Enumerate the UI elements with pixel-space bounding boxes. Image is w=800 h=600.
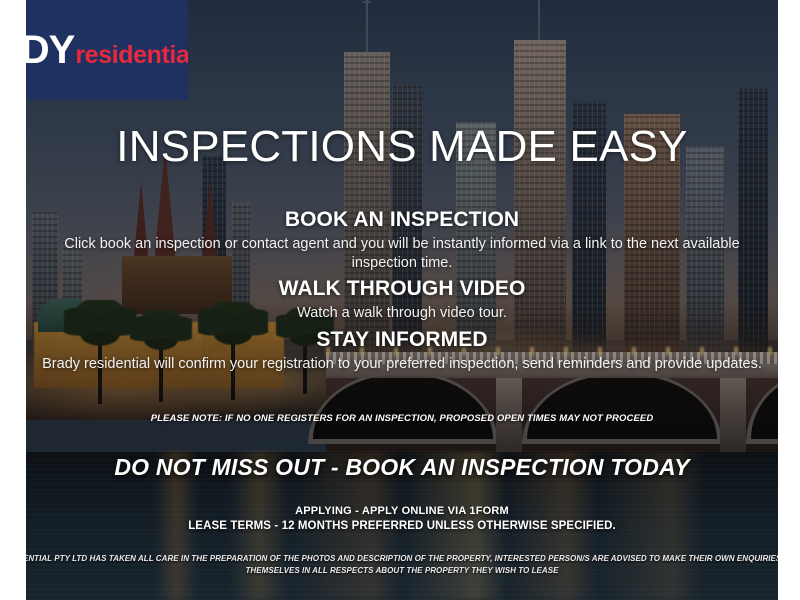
legal-disclaimer-text: BRADY RESIDENTIAL PTY LTD HAS TAKEN ALL …	[26, 553, 778, 577]
section-book-an-inspection: BOOK AN INSPECTION Click book an inspect…	[26, 208, 778, 273]
page-title: INSPECTIONS MADE EASY	[26, 122, 778, 172]
page-root: DYresidential INSPECTIONS MADE EASY BOOK…	[0, 0, 800, 600]
disclaimer-container: BRADY RESIDENTIAL PTY LTD HAS TAKEN ALL …	[26, 553, 778, 578]
call-to-action-text: DO NOT MISS OUT - BOOK AN INSPECTION TOD…	[26, 454, 778, 481]
applying-line: APPLYING - APPLY ONLINE VIA 1FORM	[26, 504, 778, 519]
please-note-text: PLEASE NOTE: IF NO ONE REGISTERS FOR AN …	[26, 413, 778, 424]
brady-residential-logo[interactable]: DYresidential	[26, 0, 188, 100]
section-walk-through-video: WALK THROUGH VIDEO Watch a walk through …	[26, 277, 778, 323]
section-body: Click book an inspection or contact agen…	[26, 235, 778, 273]
logo-brand-text: DY	[26, 28, 74, 72]
overlay-content: DYresidential INSPECTIONS MADE EASY BOOK…	[26, 0, 778, 600]
lease-terms-line: LEASE TERMS - 12 MONTHS PREFERRED UNLESS…	[26, 519, 778, 535]
apply-info-block: APPLYING - APPLY ONLINE VIA 1FORM LEASE …	[26, 504, 778, 534]
logo-sub-text: residential	[75, 41, 188, 69]
section-heading: STAY INFORMED	[26, 328, 778, 352]
section-heading: WALK THROUGH VIDEO	[26, 277, 778, 301]
section-heading: BOOK AN INSPECTION	[26, 208, 778, 232]
section-body: Watch a walk through video tour.	[26, 304, 778, 323]
section-stay-informed: STAY INFORMED Brady residential will con…	[26, 328, 778, 374]
section-body: Brady residential will confirm your regi…	[26, 355, 778, 374]
hero-banner-photo: DYresidential INSPECTIONS MADE EASY BOOK…	[26, 0, 778, 600]
